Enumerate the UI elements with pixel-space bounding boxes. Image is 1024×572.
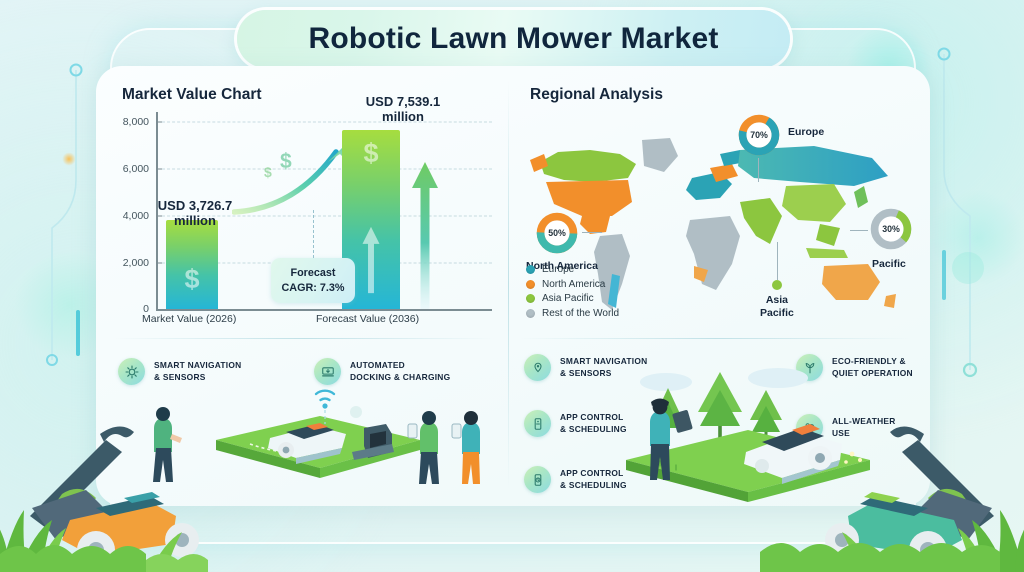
horizontal-divider-right [520, 338, 912, 339]
donut-europe-leader [758, 158, 759, 182]
donut-north-america-value: 50% [534, 210, 580, 256]
leaf-eco-icon [796, 354, 823, 381]
docking-station-icon [314, 358, 341, 385]
bar-dollar-icon: $ [363, 140, 378, 167]
phone-app-icon [524, 410, 551, 437]
page-title-text: Robotic Lawn Mower Market [308, 22, 718, 56]
feature-automated-docking[interactable]: AUTOMATED DOCKING & CHARGING [314, 358, 450, 385]
cagr-connector [313, 210, 314, 258]
feature-smart-navigation-right[interactable]: SMART NAVIGATION & SENSORS [524, 354, 647, 381]
bar1-value-line1: USD 3,726.7 [140, 198, 250, 213]
feature-label: SMART NAVIGATION & SENSORS [154, 360, 241, 383]
legend-dot-rest-of-world [526, 309, 535, 318]
xlabel-forecast-value-2036: Forecast Value (2036) [316, 313, 419, 325]
donut-north-america: 50% [534, 210, 580, 256]
xlabel-market-value-2026: Market Value (2026) [142, 313, 236, 325]
forecast-cagr-badge: Forecast CAGR: 7.3% [271, 258, 355, 303]
regional-analysis: 70% Europe 50% North America [520, 112, 912, 332]
bar1-value-label: USD 3,726.7 million [140, 198, 250, 229]
legend-item-rest-of-world: Rest of the World [526, 308, 619, 319]
donut-north-america-leader [582, 232, 602, 233]
market-value-chart: 8,000 6,000 4,000 2,000 0 $ $ [120, 112, 492, 332]
cagr-line1: Forecast [290, 266, 335, 280]
bar-up-arrow-icon [363, 221, 380, 299]
marker-asia-pacific-label: Asia Pacific [760, 294, 794, 319]
illustration-robot-mower-left [120, 382, 506, 506]
vertical-divider [508, 80, 509, 490]
feature-app-control-2[interactable]: APP CONTROL & SCHEDULING [524, 466, 627, 493]
navigation-pin-icon [524, 354, 551, 381]
ytick-label-2000: 2,000 [123, 257, 149, 269]
legend-dot-europe [526, 265, 535, 274]
asia-pacific-line2: Pacific [760, 307, 794, 320]
feature-label: APP CONTROL & SCHEDULING [560, 412, 627, 435]
infographic-canvas: Robotic Lawn Mower Market Market Value C… [0, 0, 1024, 572]
x-axis [156, 309, 492, 311]
legend-item-asia-pacific: Asia Pacific [526, 293, 619, 304]
main-card: Market Value Chart 8,000 6,000 4,000 2,0… [96, 66, 930, 506]
bar-dollar-icon: $ [184, 266, 199, 293]
bar-market-value-2026[interactable]: $ [166, 220, 218, 309]
feature-label: AUTOMATED DOCKING & CHARGING [350, 360, 450, 383]
asia-pacific-line1: Asia [760, 294, 794, 307]
legend-item-europe: Europe [526, 264, 619, 275]
feature-label: ALL-WEATHER USE [832, 416, 896, 439]
feature-label: ECO-FRIENDLY & QUIET OPERATION [832, 356, 913, 379]
legend-label-north-america: North America [542, 279, 605, 290]
dollar-float-small: $ [264, 164, 272, 180]
glow-right [930, 190, 1024, 286]
weather-icon [796, 414, 823, 441]
feature-label: SMART NAVIGATION & SENSORS [560, 356, 647, 379]
ytick-label-6000: 6,000 [123, 163, 149, 175]
ytick-label-8000: 8,000 [123, 116, 149, 128]
donut-europe-value: 70% [736, 112, 782, 158]
feature-smart-navigation-left[interactable]: SMART NAVIGATION & SENSORS [118, 358, 241, 385]
donut-pacific-label: Pacific [872, 258, 906, 271]
donut-pacific-leader [850, 230, 868, 231]
gear-sensor-icon [118, 358, 145, 385]
horizontal-divider-left [114, 338, 494, 339]
region-heading: Regional Analysis [530, 86, 663, 104]
donut-europe-label: Europe [788, 126, 824, 139]
marker-asia-pacific-dot [772, 280, 782, 290]
feature-all-weather[interactable]: ALL-WEATHER USE [796, 414, 896, 441]
feature-label: APP CONTROL & SCHEDULING [560, 468, 627, 491]
donut-europe: 70% [736, 112, 782, 158]
donut-pacific: 30% [868, 206, 914, 252]
circuit-lines-right [916, 40, 1024, 510]
donut-pacific-value: 30% [868, 206, 914, 252]
legend-dot-asia-pacific [526, 294, 535, 303]
legend-label-rest-of-world: Rest of the World [542, 308, 619, 319]
bar2-value-line1: USD 7,539.1 [344, 94, 462, 109]
bar1-value-line2: million [140, 213, 250, 228]
dollar-float-large: $ [280, 150, 292, 174]
bar2-value-line2: million [344, 109, 462, 124]
page-title: Robotic Lawn Mower Market [237, 10, 790, 68]
legend-label-europe: Europe [542, 264, 574, 275]
marker-asia-pacific-leader [777, 242, 778, 280]
chart-heading: Market Value Chart [122, 86, 262, 104]
cagr-line2: CAGR: 7.3% [282, 281, 345, 295]
legend-dot-north-america [526, 280, 535, 289]
side-up-arrow-icon [412, 162, 438, 309]
dot-orange-left [62, 152, 76, 166]
legend-label-asia-pacific: Asia Pacific [542, 293, 594, 304]
legend-item-north-america: North America [526, 279, 619, 290]
bar2-value-label: USD 7,539.1 million [344, 94, 462, 125]
feature-eco-friendly[interactable]: ECO-FRIENDLY & QUIET OPERATION [796, 354, 913, 381]
feature-app-control-1[interactable]: APP CONTROL & SCHEDULING [524, 410, 627, 437]
phone-schedule-icon [524, 466, 551, 493]
region-legend: Europe North America Asia Pacific Rest o… [526, 264, 619, 322]
